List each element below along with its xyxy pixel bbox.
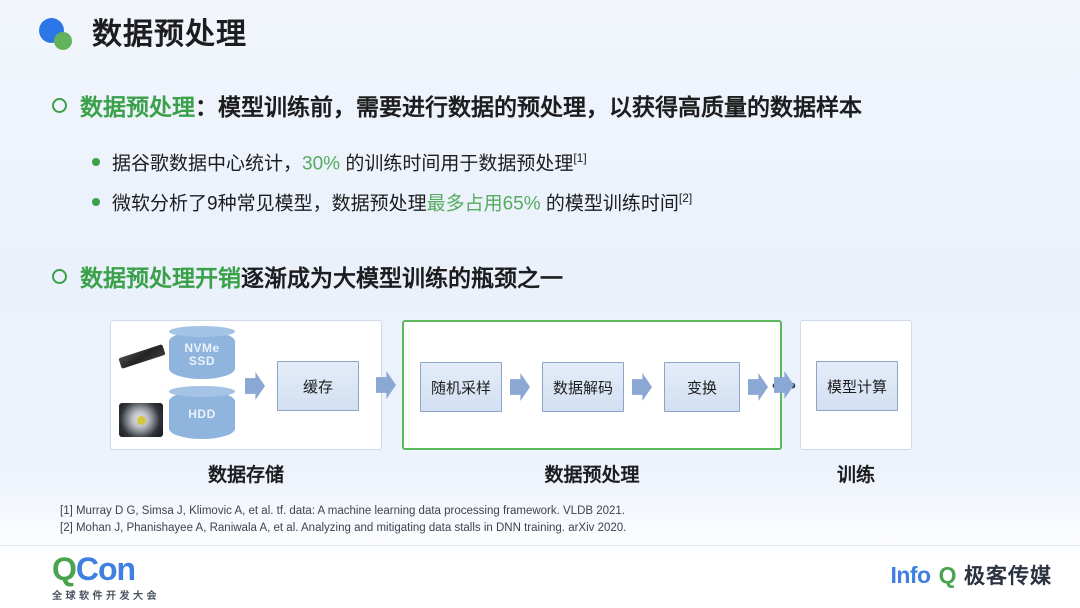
list-item: 据谷歌数据中心统计，30% 的训练时间用于数据预处理[1] — [92, 145, 587, 177]
bullet-2-post: 的模型训练时间 — [541, 193, 679, 214]
qcon-letter-q: Q — [52, 551, 76, 587]
training-caption: 训练 — [800, 460, 912, 487]
ssd-stick-icon — [118, 344, 165, 369]
bullet-2-ref: [2] — [679, 191, 692, 205]
dot-bullet-icon — [92, 198, 100, 206]
footer-divider — [0, 545, 1080, 546]
reference-2: [2] Mohan J, Phanishayee A, Raniwala A, … — [60, 520, 626, 537]
page-title-text: 数据预处理 — [92, 16, 247, 54]
qcon-wordmark: QCon — [52, 552, 160, 586]
stage-box-data-decode: 数据解码 — [542, 362, 624, 412]
infoq-logo: InfoQ 极客传媒 — [890, 560, 1052, 590]
green-circle-icon — [54, 32, 72, 50]
section-1-heading: 数据预处理：模型训练前，需要进行数据的预处理，以获得高质量的数据样本 — [52, 92, 862, 122]
model-compute-box: 模型计算 — [816, 361, 898, 411]
arrow-right-icon — [510, 373, 530, 401]
nvme-ssd-cylinder: NVMe SSD — [169, 331, 235, 379]
bullet-2-text: 微软分析了9种常见模型，数据预处理最多占用65% 的模型训练时间[2] — [112, 185, 692, 217]
section-1-heading-rest: ：模型训练前，需要进行数据的预处理，以获得高质量的数据样本 — [195, 94, 862, 120]
storage-caption: 数据存储 — [110, 460, 382, 487]
qcon-logo: QCon 全球软件开发大会 — [52, 552, 160, 602]
preprocess-caption: 数据预处理 — [402, 460, 782, 487]
section-2-heading: 数据预处理开销逐渐成为大模型训练的瓶颈之一 — [52, 263, 563, 293]
references: [1] Murray D G, Simsa J, Klimovic A, et … — [60, 503, 626, 537]
bullet-1-post: 的训练时间用于数据预处理 — [340, 153, 573, 174]
hdd-label-line1: HDD — [188, 408, 216, 421]
arrow-right-icon — [245, 372, 265, 400]
infoq-info-text: Info — [890, 562, 930, 589]
hard-disk-icon — [119, 403, 163, 437]
bullet-1-text: 据谷歌数据中心统计，30% 的训练时间用于数据预处理[1] — [112, 145, 587, 177]
hdd-cylinder: HDD — [169, 391, 235, 439]
cache-box: 缓存 — [277, 361, 359, 411]
infoq-q-letter: Q — [939, 562, 956, 589]
list-item: 微软分析了9种常见模型，数据预处理最多占用65% 的模型训练时间[2] — [92, 185, 692, 217]
arrow-right-icon — [632, 373, 652, 401]
nvme-label-line2: SSD — [189, 355, 215, 368]
reference-1: [1] Murray D G, Simsa J, Klimovic A, et … — [60, 503, 626, 520]
two-circles-icon — [38, 16, 78, 54]
bullet-2-pre: 微软分析了9种常见模型，数据预处理 — [112, 193, 427, 214]
dot-bullet-icon — [92, 158, 100, 166]
section-2-heading-green: 数据预处理开销 — [80, 265, 241, 291]
section-1-heading-text: 数据预处理：模型训练前，需要进行数据的预处理，以获得高质量的数据样本 — [80, 92, 862, 122]
bullet-1-ref: [1] — [573, 151, 586, 165]
ring-bullet-icon — [52, 98, 67, 113]
bullet-2-highlight: 最多占用65% — [427, 193, 541, 214]
qcon-letters-con: Con — [76, 551, 135, 587]
section-2-heading-text: 数据预处理开销逐渐成为大模型训练的瓶颈之一 — [80, 263, 563, 293]
stage-box-transform: 变换 — [664, 362, 740, 412]
preprocess-panel: 随机采样 数据解码 变换 ••• — [402, 320, 782, 450]
arrow-right-icon — [748, 373, 768, 401]
bullet-1-pre: 据谷歌数据中心统计， — [112, 153, 302, 174]
stage-box-random-sampling: 随机采样 — [420, 362, 502, 412]
qcon-subtitle: 全球软件开发大会 — [52, 587, 160, 602]
pipeline-diagram: NVMe SSD HDD 缓存 随机采样 数据解码 变换 ••• 模型计算 — [110, 320, 970, 450]
page-title: 数据预处理 — [38, 16, 247, 54]
bullet-1-highlight: 30% — [302, 153, 340, 174]
storage-panel: NVMe SSD HDD 缓存 — [110, 320, 382, 450]
slide: 数据预处理 数据预处理：模型训练前，需要进行数据的预处理，以获得高质量的数据样本… — [0, 0, 1080, 608]
training-panel: 模型计算 — [800, 320, 912, 450]
ring-bullet-icon — [52, 269, 67, 284]
section-2-heading-rest: 逐渐成为大模型训练的瓶颈之一 — [241, 265, 563, 291]
infoq-chinese-name: 极客传媒 — [964, 560, 1052, 590]
section-1-heading-green: 数据预处理 — [80, 94, 195, 120]
